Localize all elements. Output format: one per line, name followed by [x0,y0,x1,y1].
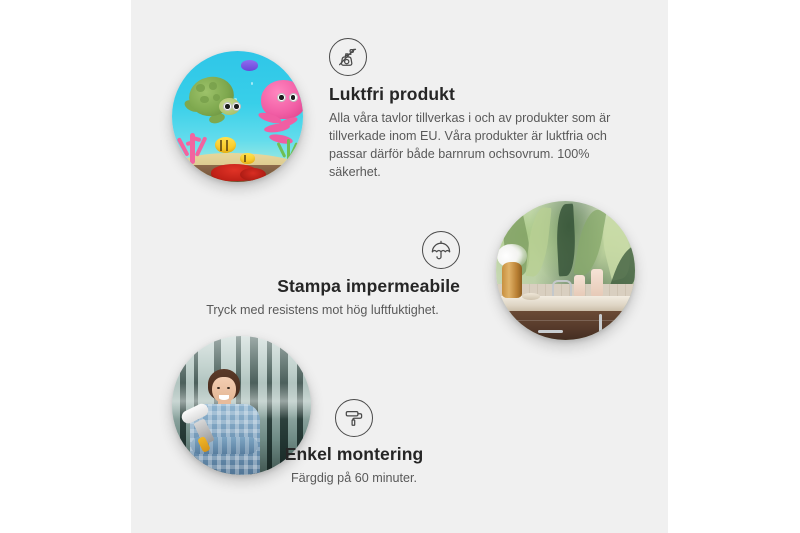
feature-description: Färgdig på 60 minuter. [263,470,445,488]
feature-description: Alla våra tavlor tillverkas i och av pro… [329,110,629,182]
promo-feature-graphic: Luktfri produkt Alla våra tavlor tillver… [0,0,800,533]
aquarium-artwork [172,51,303,182]
feature-title: Stampa impermeabile [185,276,460,298]
umbrella-icon [422,231,460,269]
coral-green [278,132,299,166]
feature-title: Luktfri produkt [329,84,629,106]
no-odour-spray-bottle-icon [329,38,367,76]
bathroom-artwork [496,201,635,340]
person-figure [183,369,266,475]
feature-title: Enkel montering [263,444,445,466]
cartoon-underwater-scene-thumbnail [172,51,303,182]
bathroom-leaf-wallpaper-thumbnail [496,201,635,340]
feature-assembly: Enkel montering Färgdig på 60 minuter. [263,399,445,488]
coral-pink [179,124,210,163]
feature-odourless: Luktfri produkt Alla våra tavlor tillver… [329,38,629,181]
feature-waterproof: Stampa impermeabile Tryck med resistens … [185,231,460,320]
feature-description: Tryck med resistens mot hög luftfuktighe… [185,302,460,320]
paint-roller-icon [335,399,373,437]
